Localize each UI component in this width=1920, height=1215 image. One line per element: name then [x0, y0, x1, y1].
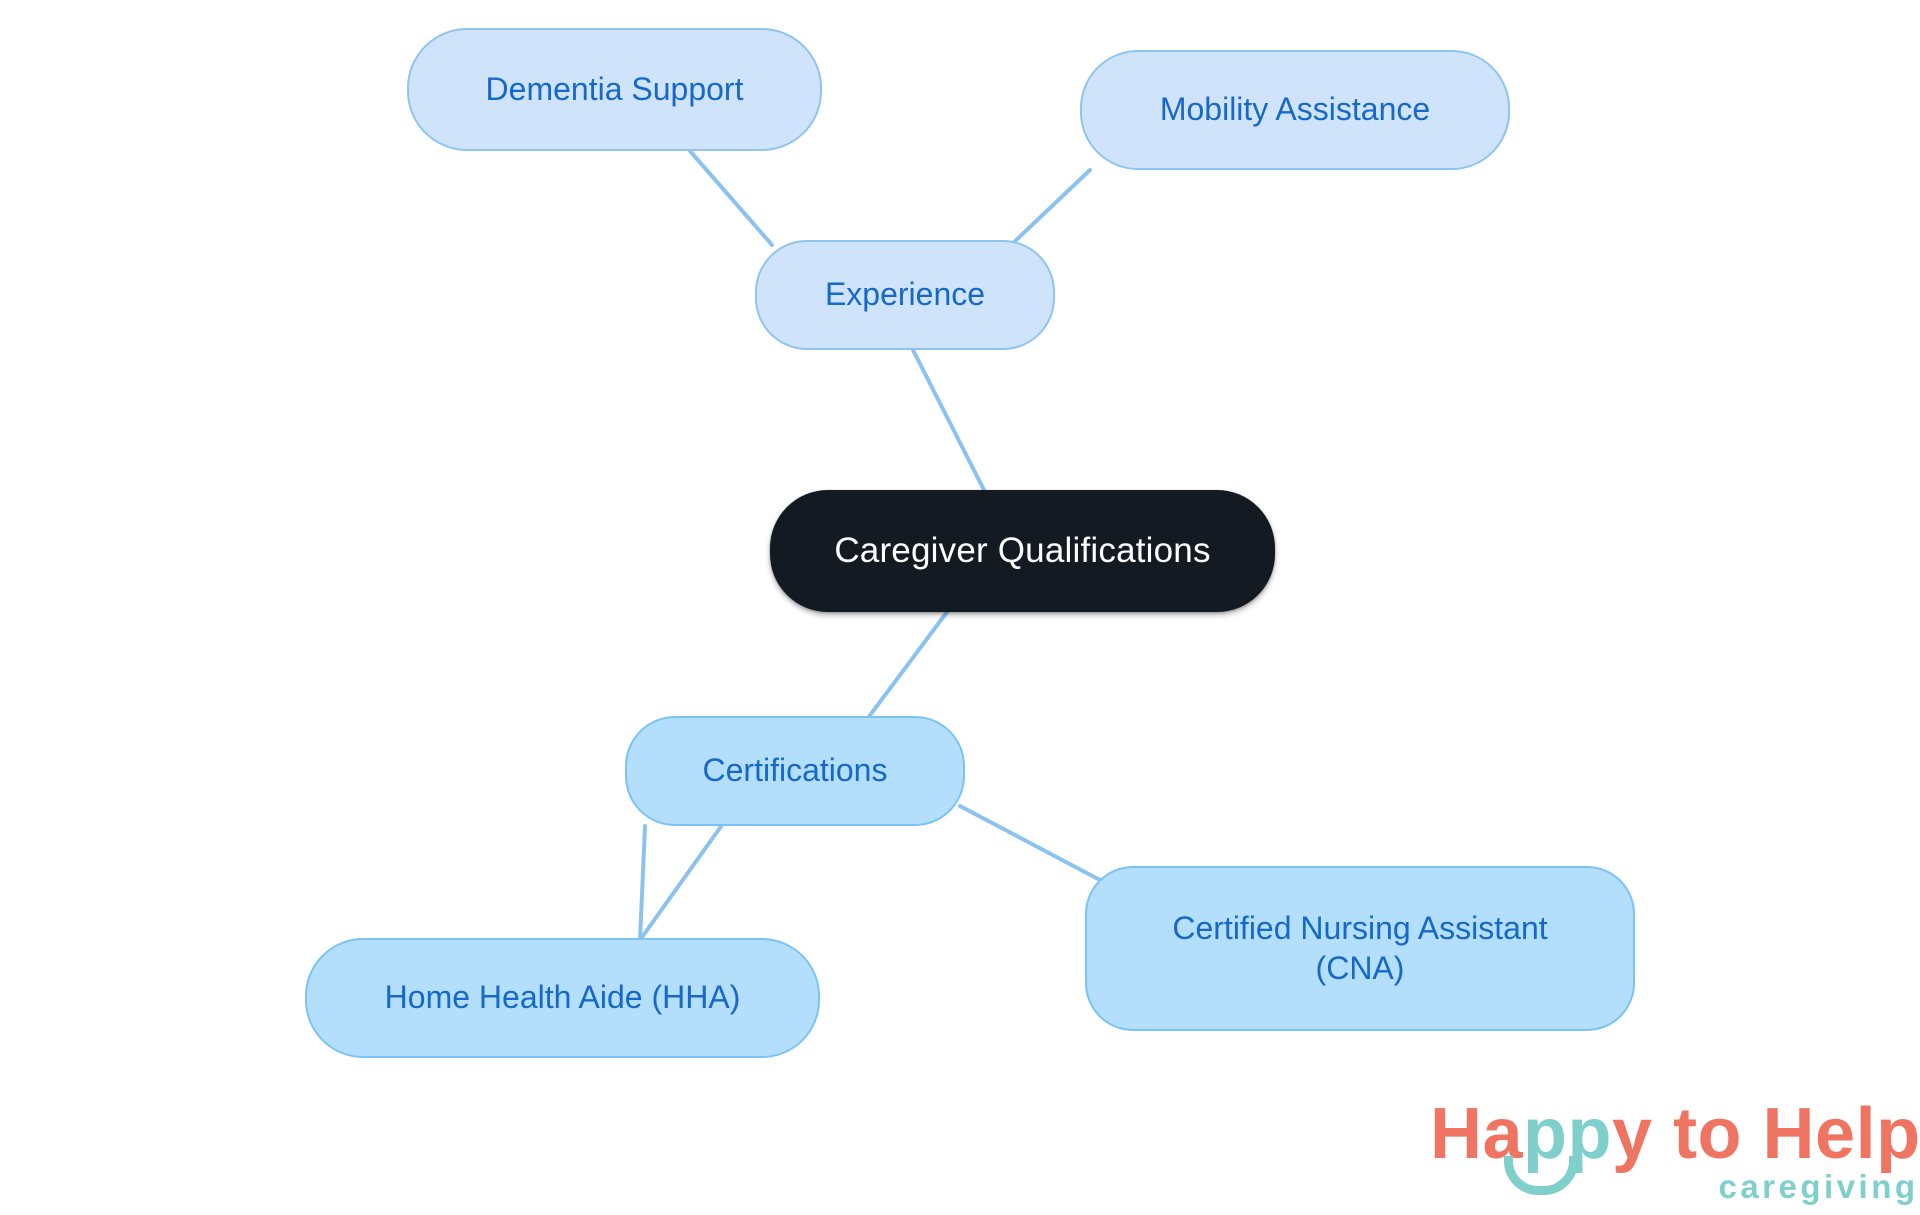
- mindmap-node-root[interactable]: Caregiver Qualifications: [770, 490, 1275, 612]
- mindmap-node-dementia-support-label: Dementia Support: [486, 70, 744, 109]
- mindmap-node-experience-label: Experience: [825, 275, 985, 314]
- mindmap-node-root-label: Caregiver Qualifications: [834, 530, 1210, 573]
- mindmap-node-home-health-aide[interactable]: Home Health Aide (HHA): [305, 938, 820, 1058]
- mindmap-node-certified-nursing-assistant[interactable]: Certified Nursing Assistant (CNA): [1085, 866, 1635, 1031]
- brand-logo-wordmark: Happy to Help caregiving: [1430, 1098, 1920, 1170]
- mindmap-node-certified-nursing-assistant-label: Certified Nursing Assistant (CNA): [1172, 909, 1547, 987]
- mindmap-canvas: Caregiver Qualifications Experience Deme…: [0, 0, 1920, 1215]
- brand-logo-word-part-3: y to Help: [1612, 1094, 1920, 1174]
- brand-logo: Happy to Help caregiving: [1430, 1098, 1920, 1170]
- mindmap-node-experience[interactable]: Experience: [755, 240, 1055, 350]
- mindmap-node-dementia-support[interactable]: Dementia Support: [407, 28, 822, 151]
- mindmap-node-mobility-assistance[interactable]: Mobility Assistance: [1080, 50, 1510, 170]
- edge-experience-dementia: [690, 151, 772, 245]
- edge-experience-mobility: [1010, 170, 1090, 246]
- mindmap-node-certifications[interactable]: Certifications: [625, 716, 965, 826]
- brand-logo-tagline: caregiving: [1718, 1170, 1918, 1203]
- edge-certifications-hha: [640, 826, 645, 940]
- mindmap-node-mobility-assistance-label: Mobility Assistance: [1160, 90, 1430, 129]
- edge-root-certifications: [862, 612, 947, 726]
- edge-root-experience: [913, 350, 985, 492]
- edge-certifications-hha-2: [640, 818, 727, 940]
- edge-certifications-cna: [960, 806, 1100, 880]
- mindmap-node-certifications-label: Certifications: [703, 751, 888, 790]
- mindmap-node-home-health-aide-label: Home Health Aide (HHA): [385, 978, 741, 1017]
